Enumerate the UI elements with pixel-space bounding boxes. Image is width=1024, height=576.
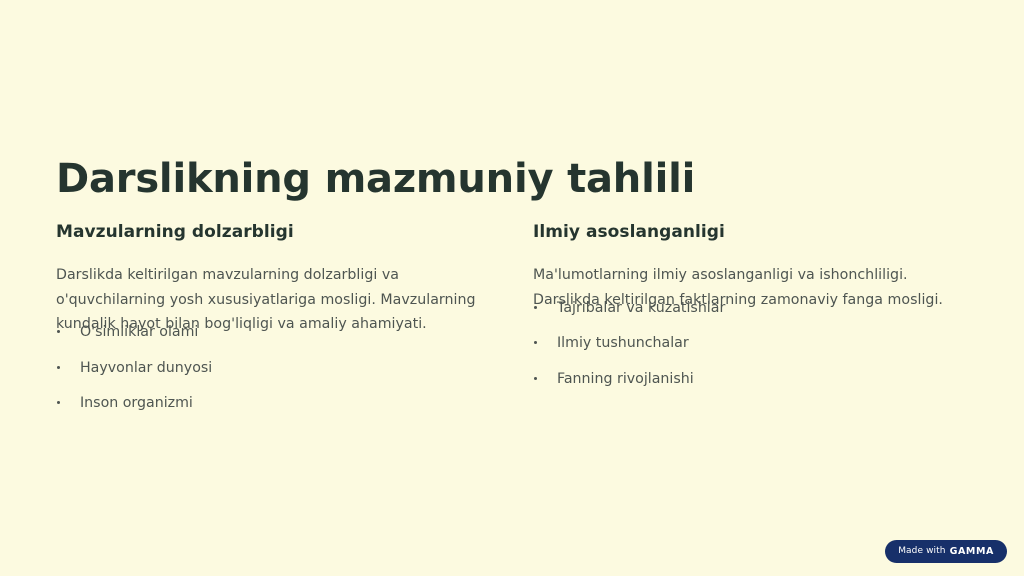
column-heading: Mavzularning dolzarbligi [56, 221, 486, 243]
list-item-label: Ilmiy tushunchalar [557, 335, 689, 351]
page-title: Darslikning mazmuniy tahlili [56, 156, 695, 203]
bullet-dot-icon [57, 330, 60, 333]
bullet-dot-icon [57, 366, 60, 369]
list-item: O'simliklar olami [56, 322, 486, 343]
slide-canvas: Darslikning mazmuniy tahlili Mavzularnin… [0, 0, 1024, 576]
content-columns: Mavzularning dolzarbligi Darslikda kelti… [56, 221, 968, 414]
list-item-label: O'simliklar olami [80, 324, 198, 340]
list-item: Inson organizmi [56, 393, 486, 414]
list-item: Hayvonlar dunyosi [56, 358, 486, 379]
made-with-gamma-badge[interactable]: Made with GAMMA [885, 540, 1007, 563]
bullet-dot-icon [534, 377, 537, 380]
list-item-label: Fanning rivojlanishi [557, 371, 694, 387]
list-item: Fanning rivojlanishi [533, 369, 963, 390]
badge-brand-label: GAMMA [950, 547, 994, 557]
list-item-label: Inson organizmi [80, 395, 193, 411]
column-bullet-list: O'simliklar olami Hayvonlar dunyosi Inso… [56, 322, 486, 414]
content-column-mavzularning-dolzarbligi: Mavzularning dolzarbligi Darslikda kelti… [56, 221, 486, 414]
bullet-dot-icon [57, 401, 60, 404]
bullet-dot-icon [534, 341, 537, 344]
bullet-dot-icon [534, 306, 537, 309]
list-item-label: Tajribalar va kuzatishlar [557, 300, 725, 316]
column-bullet-list: Tajribalar va kuzatishlar Ilmiy tushunch… [533, 298, 963, 390]
column-heading: Ilmiy asoslanganligi [533, 221, 963, 243]
badge-prefix-label: Made with [898, 547, 945, 556]
list-item-label: Hayvonlar dunyosi [80, 360, 212, 376]
content-column-ilmiy-asoslanganligi: Ilmiy asoslanganligi Ma'lumotlarning ilm… [533, 221, 963, 390]
list-item: Ilmiy tushunchalar [533, 333, 963, 354]
list-item: Tajribalar va kuzatishlar [533, 298, 963, 319]
